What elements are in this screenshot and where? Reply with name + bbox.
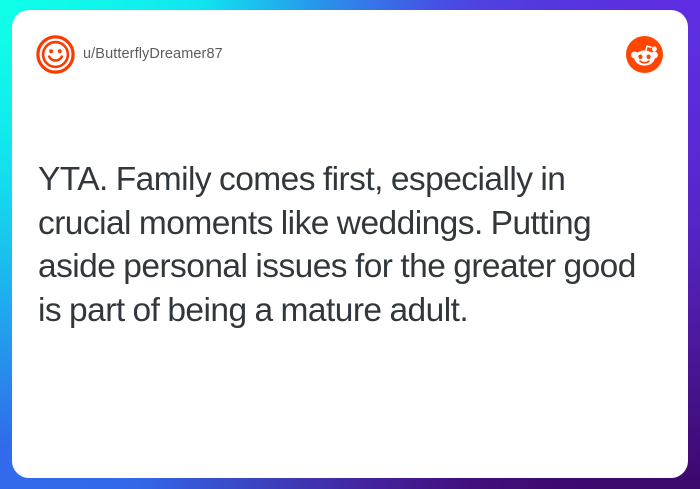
gradient-backdrop: u/ButterflyDreamer87 — [0, 0, 700, 489]
reddit-snoo-icon[interactable] — [626, 36, 663, 73]
post-header: u/ButterflyDreamer87 — [12, 10, 688, 86]
smiley-face-avatar-icon[interactable] — [36, 35, 75, 74]
post-body-text: YTA. Family comes first, especially in c… — [38, 158, 662, 332]
post-author-username[interactable]: u/ButterflyDreamer87 — [83, 46, 223, 62]
reddit-post-card: u/ButterflyDreamer87 — [12, 10, 688, 478]
